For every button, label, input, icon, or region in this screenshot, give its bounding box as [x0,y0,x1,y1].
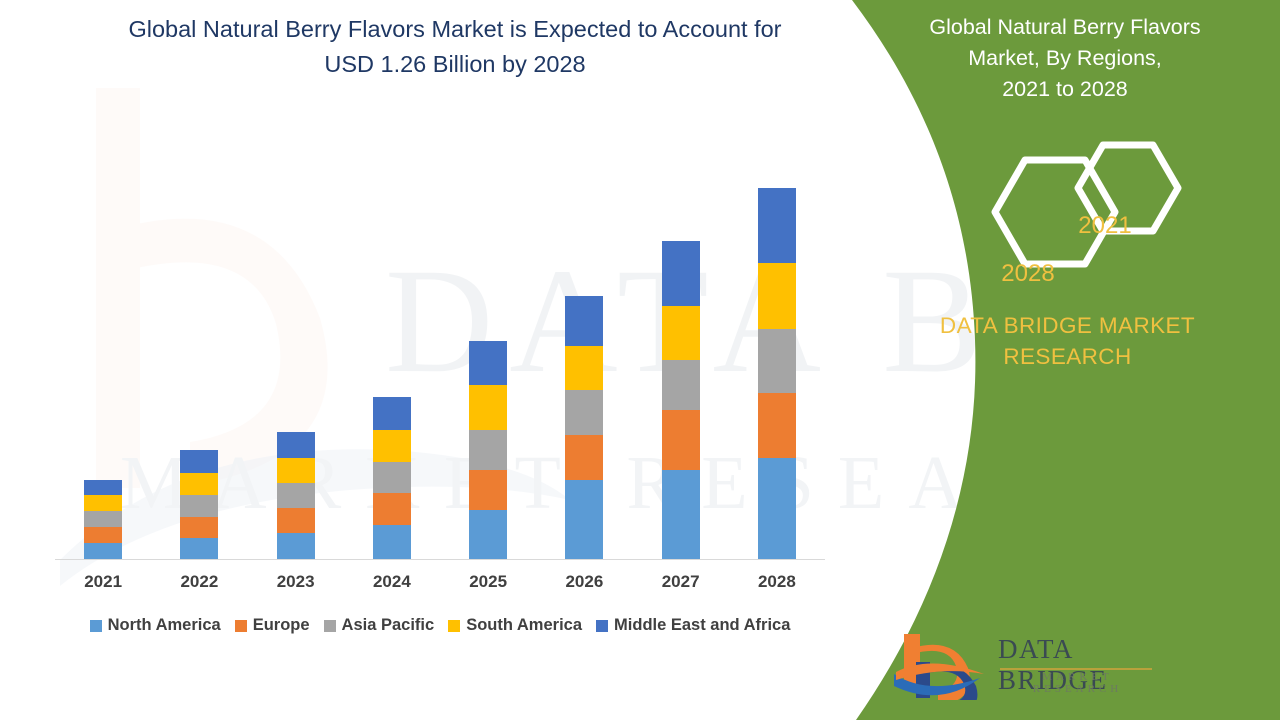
panel-title-line-2: Market, By Regions, [968,46,1162,70]
stacked-bar[interactable] [277,432,315,559]
bar-slot [440,130,536,559]
bar-segment[interactable] [373,462,411,493]
bar-slot [344,130,440,559]
bar-segment[interactable] [373,525,411,559]
logo-tagline: MARKET RESEARCH [1000,671,1155,695]
x-axis-tick-label: 2025 [440,572,536,592]
legend-swatch-icon [596,620,608,632]
bar-segment[interactable] [758,458,796,559]
bar-segment[interactable] [469,430,507,470]
x-axis-tick-label: 2022 [151,572,247,592]
legend-label: South America [466,616,582,635]
chart-title-line-1: Global Natural Berry Flavors Market is E… [128,16,781,42]
x-axis-tick-label: 2026 [536,572,632,592]
bar-segment[interactable] [180,473,218,495]
hexagon-label-start-year: 2021 [1065,212,1145,240]
bar-segment[interactable] [180,495,218,517]
bar-segment[interactable] [277,458,315,483]
legend-swatch-icon [324,620,336,632]
bar-segment[interactable] [373,493,411,525]
bar-segment[interactable] [180,450,218,473]
bar-segment[interactable] [373,430,411,462]
x-axis-labels: 20212022202320242025202620272028 [55,572,825,592]
panel-brand-line-2: RESEARCH [1003,344,1131,369]
bar-group [55,130,825,559]
bar-segment[interactable] [469,510,507,559]
stacked-bar[interactable] [180,450,218,559]
legend-item[interactable]: North America [90,616,221,635]
bar-slot [151,130,247,559]
infographic-canvas: DATA BRIDGE MARKET RESEARCH Global Natur… [0,0,1280,720]
panel-title-line-1: Global Natural Berry Flavors [929,15,1200,39]
bar-slot [729,130,825,559]
bar-slot [536,130,632,559]
bar-segment[interactable] [758,263,796,329]
panel-brand-name: DATA BRIDGE MARKET RESEARCH [895,310,1240,372]
bar-segment[interactable] [662,360,700,410]
x-axis-tick-label: 2021 [55,572,151,592]
bar-segment[interactable] [662,306,700,361]
bar-segment[interactable] [84,511,122,527]
legend-item[interactable]: South America [448,616,582,635]
bar-slot [248,130,344,559]
bar-segment[interactable] [565,390,603,435]
stacked-bar[interactable] [469,341,507,559]
bar-segment[interactable] [469,385,507,430]
bar-segment[interactable] [565,435,603,480]
bar-segment[interactable] [277,533,315,559]
x-axis-tick-label: 2024 [344,572,440,592]
bar-segment[interactable] [180,517,218,538]
legend-item[interactable]: Europe [235,616,310,635]
bar-segment[interactable] [84,480,122,495]
bar-segment[interactable] [662,470,700,559]
x-axis-tick-label: 2023 [248,572,344,592]
bar-segment[interactable] [277,508,315,533]
x-axis-tick-label: 2027 [633,572,729,592]
legend-swatch-icon [448,620,460,632]
company-logo: DATA BRIDGE MARKET RESEARCH [890,628,1130,700]
bar-segment[interactable] [758,329,796,394]
panel-title-line-3: 2021 to 2028 [1002,77,1128,101]
bar-segment[interactable] [84,543,122,559]
legend-item[interactable]: Middle East and Africa [596,616,790,635]
bar-segment[interactable] [758,188,796,263]
bar-segment[interactable] [180,538,218,559]
panel-brand-line-1: DATA BRIDGE MARKET [940,313,1195,338]
legend-label: North America [108,616,221,635]
legend-item[interactable]: Asia Pacific [324,616,435,635]
bar-slot [55,130,151,559]
bar-segment[interactable] [565,346,603,391]
hexagon-label-end-year: 2028 [988,260,1068,288]
stacked-bar[interactable] [373,397,411,559]
bar-segment[interactable] [758,393,796,458]
bar-segment[interactable] [662,241,700,306]
chart-legend: North AmericaEuropeAsia PacificSouth Ame… [55,616,825,635]
legend-swatch-icon [90,620,102,632]
legend-label: Middle East and Africa [614,616,790,635]
bar-segment[interactable] [84,527,122,543]
bar-segment[interactable] [469,470,507,510]
legend-label: Europe [253,616,310,635]
stacked-bar[interactable] [662,241,700,559]
brand-panel: Global Natural Berry Flavors Market, By … [820,0,1280,720]
chart-plot-area [55,130,825,560]
legend-swatch-icon [235,620,247,632]
bar-segment[interactable] [84,495,122,511]
stacked-bar[interactable] [565,296,603,559]
x-axis-tick-label: 2028 [729,572,825,592]
hexagon-badges: 2021 2028 [970,140,1190,285]
logo-mark-icon [890,628,990,700]
bar-segment[interactable] [469,341,507,386]
bar-slot [633,130,729,559]
legend-label: Asia Pacific [342,616,435,635]
bar-segment[interactable] [565,480,603,559]
chart-title: Global Natural Berry Flavors Market is E… [95,12,815,82]
stacked-bar[interactable] [84,480,122,559]
bar-segment[interactable] [662,410,700,470]
panel-title: Global Natural Berry Flavors Market, By … [880,12,1250,105]
stacked-bar[interactable] [758,188,796,559]
chart-title-line-2: USD 1.26 Billion by 2028 [324,51,585,77]
bar-segment[interactable] [565,296,603,346]
bar-segment[interactable] [373,397,411,430]
bar-segment[interactable] [277,432,315,458]
logo-divider [1000,668,1152,670]
x-axis-line [55,559,825,560]
bar-segment[interactable] [277,483,315,508]
